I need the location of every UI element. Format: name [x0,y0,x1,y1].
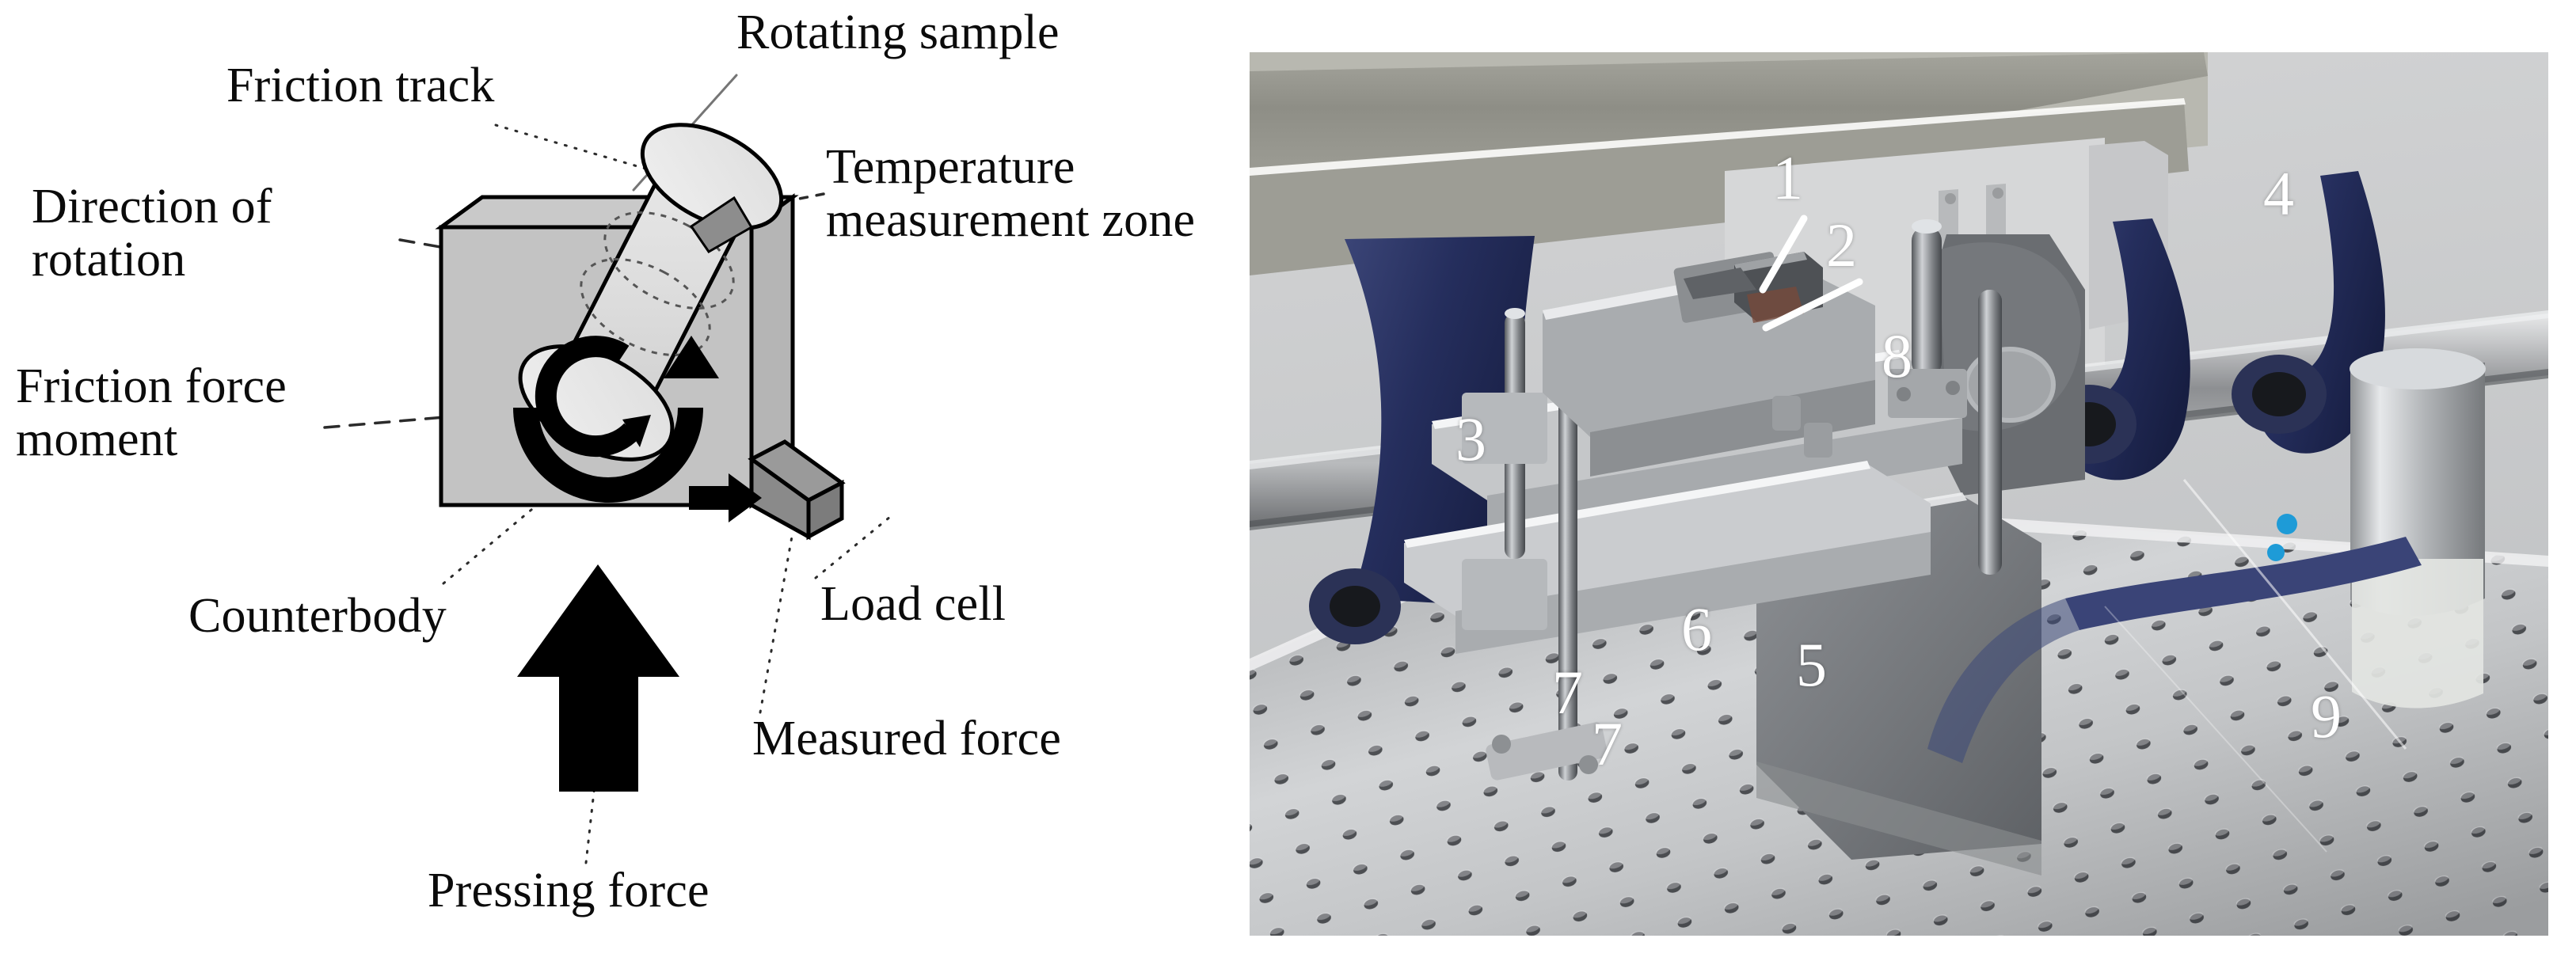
schematic-panel: Friction track Rotating sample Direction… [0,0,1250,961]
label-rotating-sample: Rotating sample [736,6,1060,59]
label-direction-of-rotation: Direction of rotation [32,180,272,287]
photo-number-5: 5 [1796,634,1827,696]
label-pressing-force: Pressing force [428,864,710,917]
label-counterbody: Counterbody [188,590,447,643]
label-friction-track: Friction track [226,59,495,112]
pressing-force-arrow-icon [517,564,679,792]
photo-number-7-lower: 7 [1592,713,1623,775]
photo-number-9: 9 [2311,686,2342,747]
photo-number-6: 6 [1681,598,1712,660]
photo-number-3: 3 [1455,408,1486,470]
photo-number-2: 2 [1826,215,1857,276]
photo-number-7-upper: 7 [1552,662,1583,724]
load-cell-block [751,442,842,537]
photo-number-1: 1 [1772,147,1803,209]
photograph-render [1250,52,2548,936]
photo-number-4: 4 [2263,163,2294,225]
photograph-panel: 1 2 3 4 5 6 7 7 8 9 [1250,52,2548,936]
label-temperature-measurement-zone: Temperature measurement zone [826,141,1195,247]
photo-number-8: 8 [1882,325,1912,387]
label-measured-force: Measured force [752,712,1061,765]
label-friction-force-moment: Friction force moment [16,360,287,466]
label-load-cell: Load cell [820,578,1006,631]
figure-root: Friction track Rotating sample Direction… [0,0,2576,961]
